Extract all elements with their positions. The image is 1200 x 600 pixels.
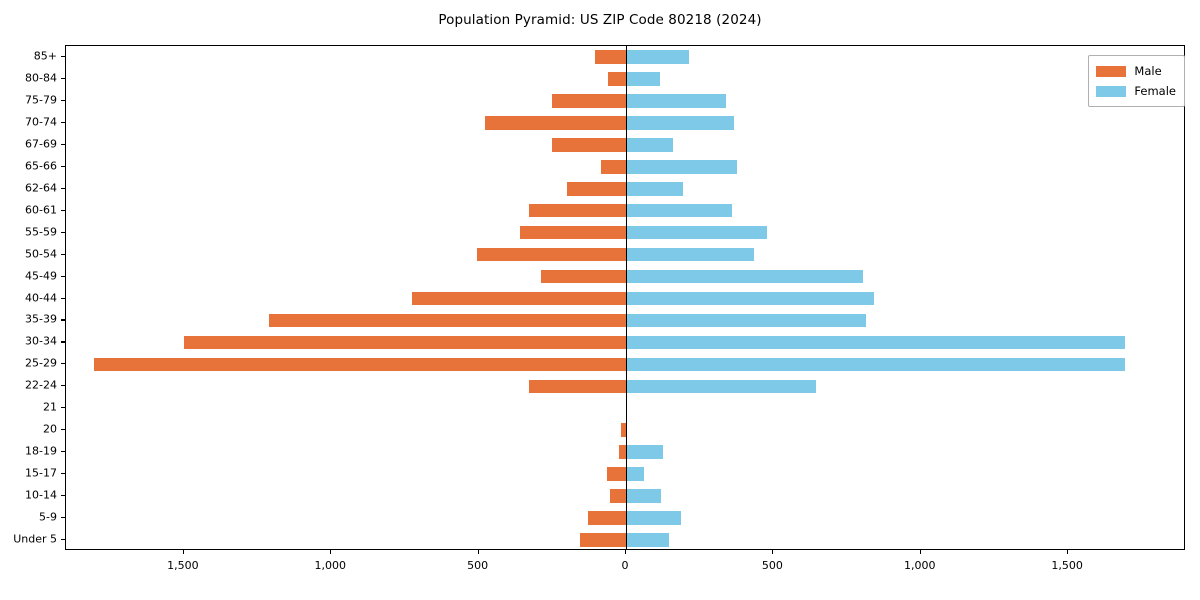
bar-male[interactable] — [567, 182, 626, 196]
bar-female[interactable] — [626, 94, 726, 108]
legend-label-male: Male — [1134, 64, 1161, 78]
bar-row — [66, 226, 1184, 240]
bar-row — [66, 533, 1184, 547]
bar-male[interactable] — [412, 292, 626, 306]
bar-female[interactable] — [626, 72, 660, 86]
population-pyramid-figure: Population Pyramid: US ZIP Code 80218 (2… — [0, 0, 1200, 600]
bar-female[interactable] — [626, 138, 673, 152]
y-tick-label: 50-54 — [25, 247, 57, 260]
bar-female[interactable] — [626, 50, 689, 64]
bar-female[interactable] — [626, 511, 681, 525]
y-tick-label: 25-29 — [25, 357, 57, 370]
bar-female[interactable] — [626, 226, 767, 240]
bar-female[interactable] — [626, 116, 734, 130]
bar-female[interactable] — [626, 467, 644, 481]
x-tick-mark — [183, 550, 184, 554]
x-axis-tick-layer: 1,5001,00050005001,0001,500 — [65, 550, 1185, 590]
bar-male[interactable] — [269, 314, 626, 328]
y-tick-label: 10-14 — [25, 489, 57, 502]
bar-female[interactable] — [626, 292, 874, 306]
y-tick-label: 62-64 — [25, 181, 57, 194]
bar-female[interactable] — [626, 445, 663, 459]
y-tick-label: 20 — [43, 423, 57, 436]
zero-axis-line — [626, 46, 627, 549]
bar-female[interactable] — [626, 358, 1125, 372]
legend-item-male[interactable]: Male — [1096, 61, 1176, 81]
bar-male[interactable] — [601, 160, 626, 174]
bar-row — [66, 270, 1184, 284]
y-tick-label: 70-74 — [25, 115, 57, 128]
x-tick-label: 500 — [762, 559, 783, 572]
y-tick-label: 40-44 — [25, 291, 57, 304]
bar-male[interactable] — [608, 72, 626, 86]
bar-row — [66, 204, 1184, 218]
y-tick-label: 35-39 — [25, 313, 57, 326]
bar-male[interactable] — [588, 511, 626, 525]
legend-swatch-female — [1096, 86, 1126, 97]
bar-male[interactable] — [580, 533, 626, 547]
y-tick-label: 18-19 — [25, 445, 57, 458]
bar-male[interactable] — [595, 50, 626, 64]
bar-row — [66, 292, 1184, 306]
x-tick-label: 500 — [467, 559, 488, 572]
x-tick-mark — [920, 550, 921, 554]
legend-item-female[interactable]: Female — [1096, 81, 1176, 101]
bar-male[interactable] — [610, 489, 626, 503]
bar-male[interactable] — [552, 94, 626, 108]
x-tick-mark — [330, 550, 331, 554]
y-tick-label: 65-66 — [25, 159, 57, 172]
bar-female[interactable] — [626, 533, 669, 547]
y-tick-label: Under 5 — [13, 533, 57, 546]
bar-row — [66, 467, 1184, 481]
bar-female[interactable] — [626, 489, 661, 503]
x-tick-mark — [1067, 550, 1068, 554]
bar-row — [66, 358, 1184, 372]
x-tick-mark — [478, 550, 479, 554]
bars-container — [66, 46, 1184, 549]
bar-female[interactable] — [626, 204, 732, 218]
x-tick-label: 1,500 — [167, 559, 199, 572]
y-tick-label: 5-9 — [39, 511, 57, 524]
bar-female[interactable] — [626, 182, 683, 196]
y-tick-label: 15-17 — [25, 467, 57, 480]
bar-female[interactable] — [626, 160, 737, 174]
bar-row — [66, 489, 1184, 503]
legend-label-female: Female — [1134, 84, 1176, 98]
y-tick-label: 22-24 — [25, 379, 57, 392]
y-tick-label: 45-49 — [25, 269, 57, 282]
y-tick-label: 75-79 — [25, 93, 57, 106]
chart-legend[interactable]: Male Female — [1088, 55, 1185, 107]
bar-male[interactable] — [520, 226, 626, 240]
bar-row — [66, 138, 1184, 152]
x-tick-label: 0 — [622, 559, 629, 572]
bar-female[interactable] — [626, 380, 816, 394]
bar-female[interactable] — [626, 270, 863, 284]
y-tick-label: 60-61 — [25, 203, 57, 216]
y-tick-label: 67-69 — [25, 137, 57, 150]
bar-row — [66, 423, 1184, 437]
bar-female[interactable] — [626, 336, 1125, 350]
bar-row — [66, 445, 1184, 459]
bar-male[interactable] — [94, 358, 626, 372]
x-tick-mark — [772, 550, 773, 554]
y-tick-label: 80-84 — [25, 71, 57, 84]
x-tick-label: 1,000 — [904, 559, 936, 572]
legend-swatch-male — [1096, 66, 1126, 77]
x-tick-label: 1,500 — [1051, 559, 1083, 572]
bar-male[interactable] — [529, 204, 626, 218]
bar-male[interactable] — [541, 270, 626, 284]
bar-row — [66, 116, 1184, 130]
bar-row — [66, 160, 1184, 174]
x-tick-mark — [625, 550, 626, 554]
bar-row — [66, 50, 1184, 64]
bar-female[interactable] — [626, 248, 754, 262]
bar-row — [66, 72, 1184, 86]
bar-row — [66, 248, 1184, 262]
y-tick-label: 55-59 — [25, 225, 57, 238]
plot-area — [65, 45, 1185, 550]
bar-male[interactable] — [529, 380, 626, 394]
x-tick-label: 1,000 — [315, 559, 347, 572]
bar-row — [66, 182, 1184, 196]
bar-female[interactable] — [626, 314, 866, 328]
bar-male[interactable] — [184, 336, 626, 350]
chart-title: Population Pyramid: US ZIP Code 80218 (2… — [0, 12, 1200, 28]
bar-row — [66, 314, 1184, 328]
bar-male[interactable] — [477, 248, 626, 262]
y-axis-tick-layer: Under 55-910-1415-1718-19202122-2425-293… — [0, 45, 65, 550]
bar-male[interactable] — [607, 467, 626, 481]
bar-male[interactable] — [485, 116, 626, 130]
bar-row — [66, 380, 1184, 394]
bar-male[interactable] — [552, 138, 626, 152]
bar-male[interactable] — [619, 445, 626, 459]
bar-row — [66, 94, 1184, 108]
y-tick-label: 85+ — [34, 49, 57, 62]
bar-row — [66, 401, 1184, 415]
bar-row — [66, 511, 1184, 525]
y-tick-label: 21 — [43, 401, 57, 414]
y-tick-label: 30-34 — [25, 335, 57, 348]
bar-row — [66, 336, 1184, 350]
